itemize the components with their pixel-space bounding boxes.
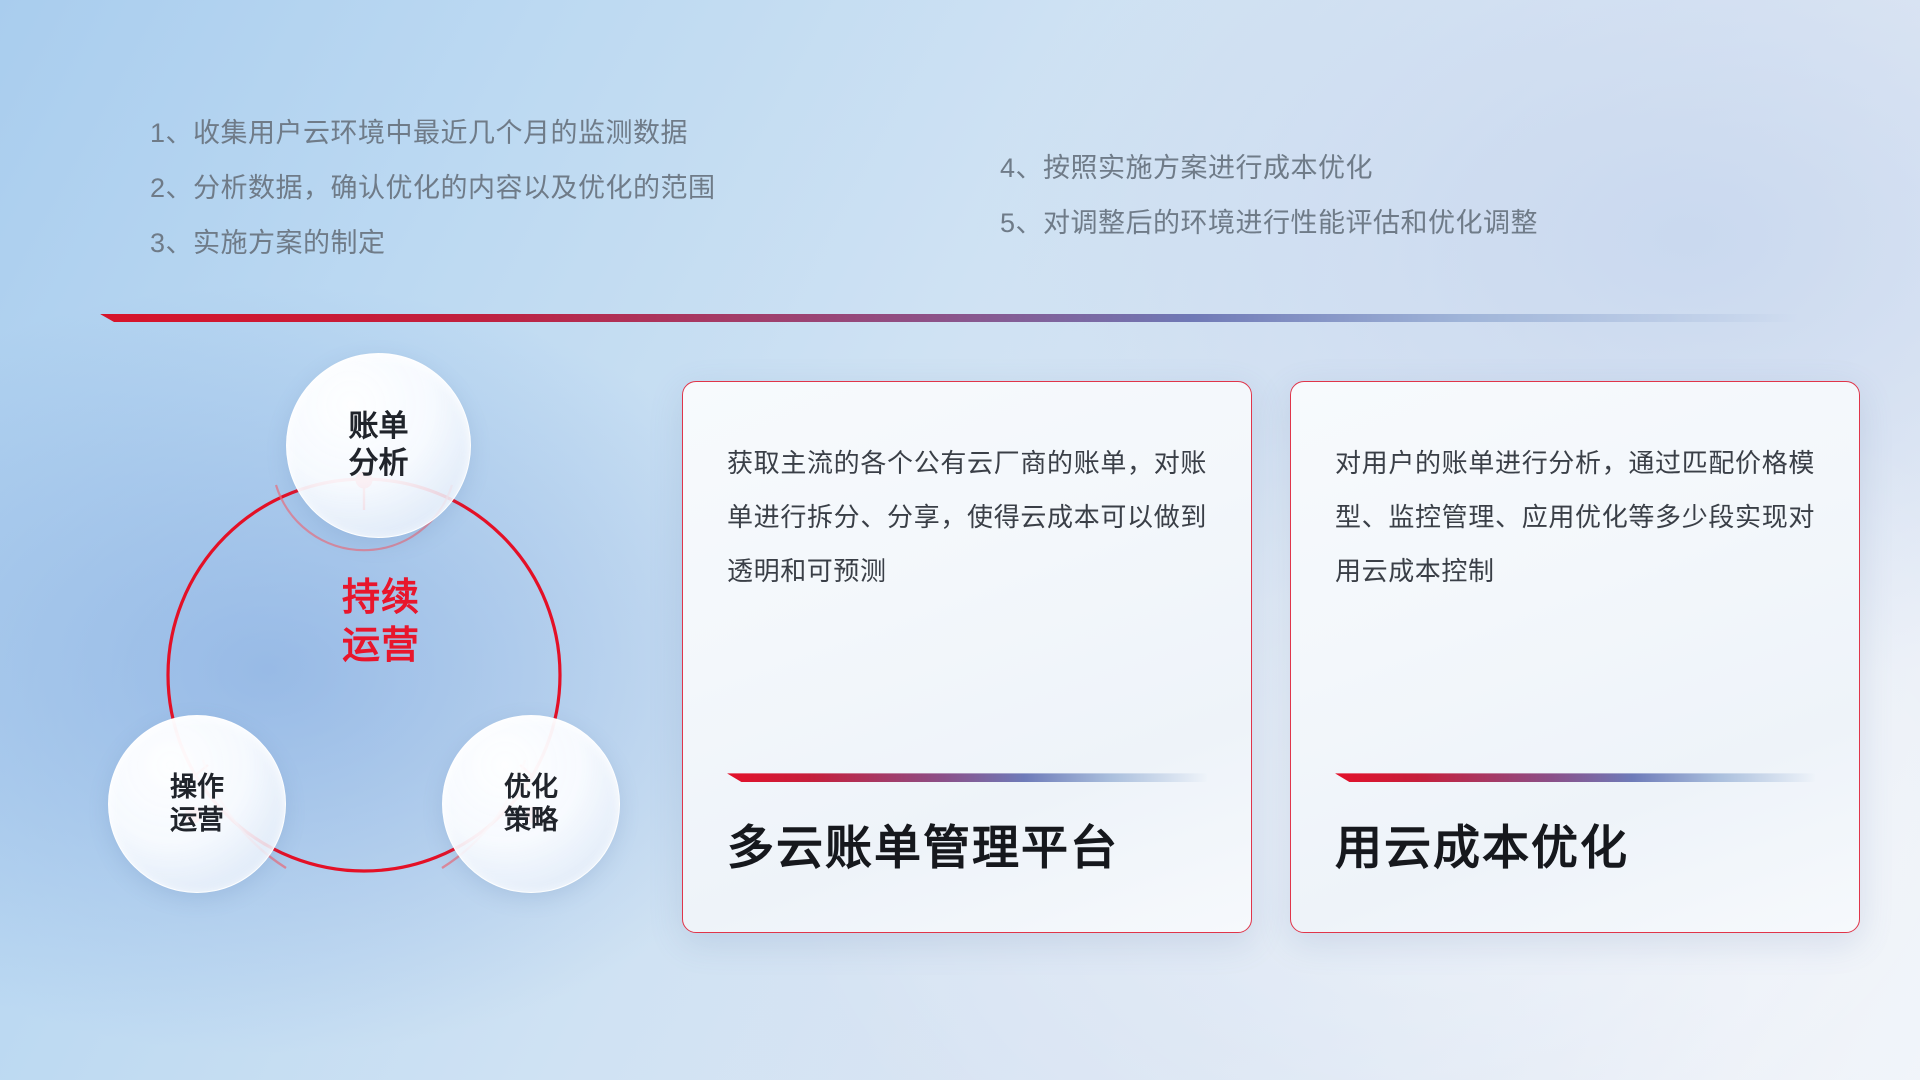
- list-item: 2、分析数据，确认优化的内容以及优化的范围: [150, 175, 716, 202]
- venn-bubble-operations[interactable]: 操作 运营: [108, 715, 286, 893]
- slide-canvas: 1、收集用户云环境中最近几个月的监测数据 2、分析数据，确认优化的内容以及优化的…: [0, 0, 1920, 1080]
- step-text: 实施方案的制定: [193, 228, 386, 258]
- step-number: 4、: [1000, 153, 1043, 183]
- bubble-label-line2: 策略: [504, 804, 558, 837]
- card-body-text: 对用户的账单进行分析，通过匹配价格模型、监控管理、应用优化等多少段实现对用云成本…: [1335, 436, 1815, 598]
- card-accent-rule: [1335, 773, 1815, 782]
- card-title: 多云账单管理平台: [727, 822, 1207, 874]
- list-item: 1、收集用户云环境中最近几个月的监测数据: [150, 120, 716, 147]
- feature-card-multicloud-billing[interactable]: 获取主流的各个公有云厂商的账单，对账单进行拆分、分享，使得云成本可以做到透明和可…: [682, 381, 1252, 933]
- section-divider: [100, 314, 1800, 322]
- steps-list-left: 1、收集用户云环境中最近几个月的监测数据 2、分析数据，确认优化的内容以及优化的…: [150, 120, 716, 257]
- feature-card-cost-optimization[interactable]: 对用户的账单进行分析，通过匹配价格模型、监控管理、应用优化等多少段实现对用云成本…: [1290, 381, 1860, 933]
- list-item: 3、实施方案的制定: [150, 230, 716, 257]
- step-number: 3、: [150, 228, 193, 258]
- venn-diagram: 账单 分析 操作 运营 优化 策略 持续 运营: [90, 345, 650, 955]
- venn-bubble-billing-analysis[interactable]: 账单 分析: [286, 353, 471, 538]
- bubble-label-line2: 分析: [349, 446, 409, 483]
- step-text: 按照实施方案进行成本优化: [1043, 153, 1373, 183]
- step-text: 收集用户云环境中最近几个月的监测数据: [193, 118, 688, 148]
- card-title: 用云成本优化: [1335, 822, 1815, 874]
- card-body-text: 获取主流的各个公有云厂商的账单，对账单进行拆分、分享，使得云成本可以做到透明和可…: [727, 436, 1207, 598]
- step-text: 对调整后的环境进行性能评估和优化调整: [1043, 208, 1538, 238]
- bubble-label-line1: 优化: [504, 771, 558, 804]
- list-item: 4、按照实施方案进行成本优化: [1000, 155, 1538, 182]
- bubble-label-line1: 账单: [349, 409, 409, 446]
- step-number: 1、: [150, 118, 193, 148]
- center-label-line1: 持续: [286, 575, 476, 623]
- step-text: 分析数据，确认优化的内容以及优化的范围: [193, 173, 716, 203]
- list-item: 5、对调整后的环境进行性能评估和优化调整: [1000, 210, 1538, 237]
- step-number: 2、: [150, 173, 193, 203]
- venn-center-label: 持续 运营: [286, 575, 476, 671]
- bubble-label-line2: 运营: [170, 804, 224, 837]
- card-accent-rule: [727, 773, 1207, 782]
- venn-bubble-optimization-strategy[interactable]: 优化 策略: [442, 715, 620, 893]
- step-number: 5、: [1000, 208, 1043, 238]
- bubble-label-line1: 操作: [170, 771, 224, 804]
- center-label-line2: 运营: [286, 623, 476, 671]
- steps-list-right: 4、按照实施方案进行成本优化 5、对调整后的环境进行性能评估和优化调整: [1000, 155, 1538, 237]
